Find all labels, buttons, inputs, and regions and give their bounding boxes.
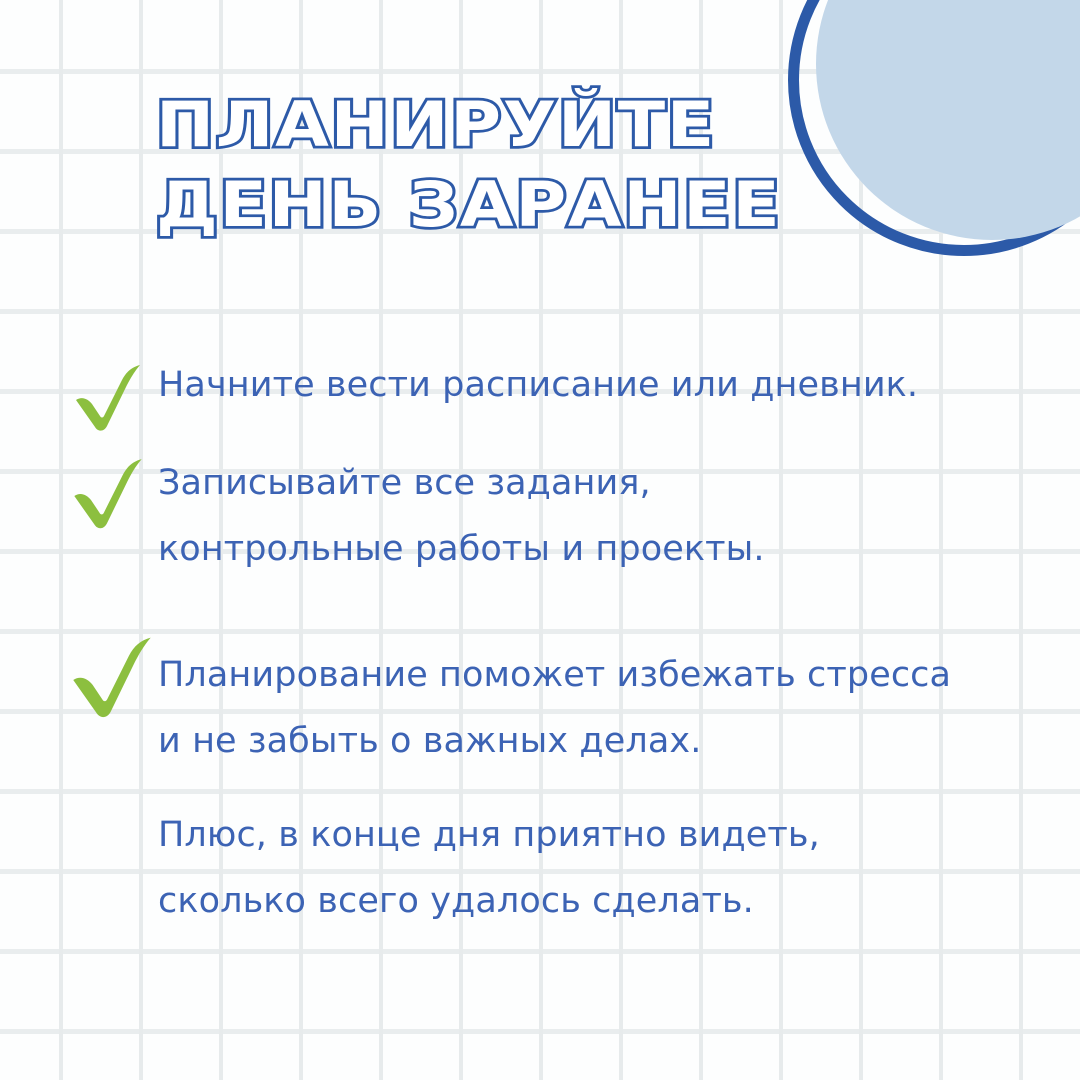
list-item-line: Записывайте все задания, xyxy=(158,450,1040,516)
list-item: Записывайте все задания, контрольные раб… xyxy=(0,450,1080,582)
list-item-line: Плюс, в конце дня приятно видеть, xyxy=(158,802,1040,868)
checkmark-icon xyxy=(68,456,148,536)
list-item-text: Плюс, в конце дня приятно видеть, скольк… xyxy=(158,802,1080,934)
checkmark-icon xyxy=(66,634,158,726)
page-title-line-1: ПЛАНИРУЙТЕ xyxy=(156,86,940,164)
list-item-line: Начните вести расписание или дневник. xyxy=(158,352,1040,418)
list-item-line: контрольные работы и проекты. xyxy=(158,516,1040,582)
page-title: ПЛАНИРУЙТЕ ДЕНЬ ЗАРАНЕЕ xyxy=(156,86,856,244)
list-item-text: Начните вести расписание или дневник. xyxy=(158,352,1080,418)
poster-canvas: ПЛАНИРУЙТЕ ДЕНЬ ЗАРАНЕЕ Начните вести ра… xyxy=(0,0,1080,1080)
list-item-text: Планирование поможет избежать стресса и … xyxy=(158,642,1080,774)
list-item-line: сколько всего удалось сделать. xyxy=(158,868,1040,934)
page-title-line-2: ДЕНЬ ЗАРАНЕЕ xyxy=(156,166,940,244)
list-item-line: и не забыть о важных делах. xyxy=(158,708,1040,774)
list-item-text: Записывайте все задания, контрольные раб… xyxy=(158,450,1080,582)
list-item: Плюс, в конце дня приятно видеть, скольк… xyxy=(0,802,1080,934)
checkmark-icon xyxy=(70,362,146,438)
list-item: Начните вести расписание или дневник. xyxy=(0,352,1080,418)
list-item-line: Планирование поможет избежать стресса xyxy=(158,642,1040,708)
list-item: Планирование поможет избежать стресса и … xyxy=(0,642,1080,774)
tips-list: Начните вести расписание или дневник. За… xyxy=(0,352,1080,934)
